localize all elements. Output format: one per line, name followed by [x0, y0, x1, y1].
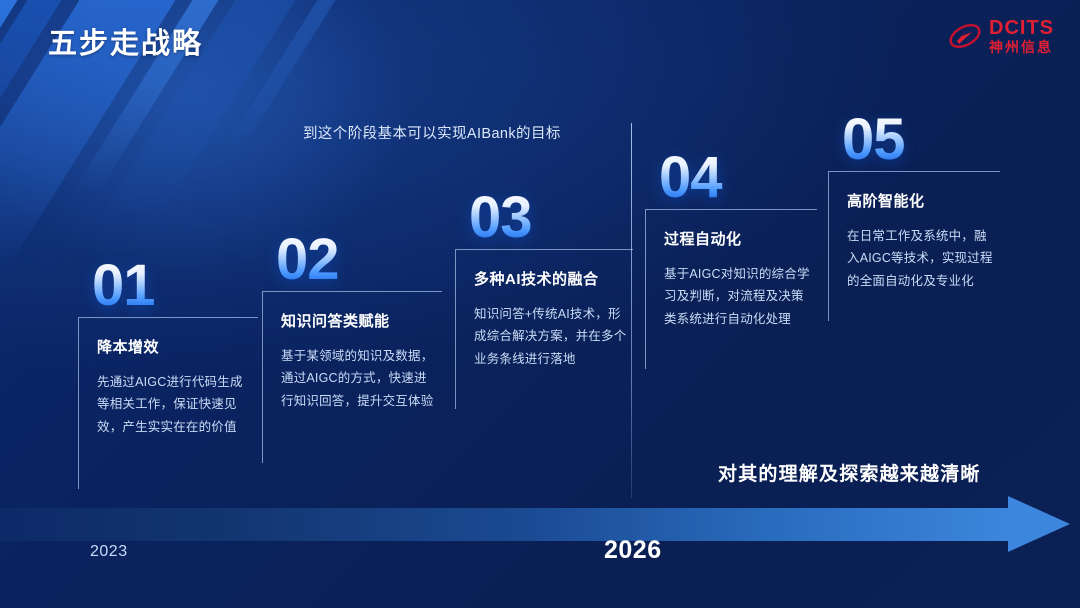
page-title: 五步走战略 [48, 20, 203, 62]
logo-wordmark: DCITS 神州信息 [989, 18, 1054, 54]
top-note: 到这个阶段基本可以实现AIBank的目标 [303, 122, 561, 143]
step-content: 高阶智能化 在日常工作及系统中，融入AIGC等技术，实现过程的全面自动化及专业化 [828, 171, 1000, 321]
step-description: 基于AIGC对知识的综合学习及判断，对流程及决策类系统进行自动化处理 [664, 263, 813, 330]
step-description: 基于某领域的知识及数据，通过AIGC的方式，快速进行知识回答，提升交互体验 [281, 345, 438, 412]
step-number: 04 [659, 150, 817, 205]
step-number: 05 [842, 112, 1000, 167]
step-number: 02 [276, 232, 442, 287]
step-description: 在日常工作及系统中，融入AIGC等技术，实现过程的全面自动化及专业化 [847, 225, 996, 292]
slide-header: 五步走战略 DCITS 神州信息 [0, 0, 1080, 78]
dcits-swirl-icon [948, 21, 982, 51]
timeline-arrow-head-icon [1008, 496, 1070, 552]
logo-en-text: DCITS [989, 18, 1054, 38]
step-heading: 多种AI技术的融合 [474, 268, 629, 289]
step-card-04: 04 过程自动化 基于AIGC对知识的综合学习及判断，对流程及决策类系统进行自动… [645, 150, 817, 369]
timeline-year-end: 2026 [604, 536, 662, 565]
step-description: 知识问答+传统AI技术，形成综合解决方案，并在多个业务条线进行落地 [474, 303, 629, 370]
step-heading: 降本增效 [97, 336, 254, 357]
step-heading: 过程自动化 [664, 228, 813, 249]
step-content: 过程自动化 基于AIGC对知识的综合学习及判断，对流程及决策类系统进行自动化处理 [645, 209, 817, 369]
step-card-05: 05 高阶智能化 在日常工作及系统中，融入AIGC等技术，实现过程的全面自动化及… [828, 112, 1000, 321]
step-number: 03 [469, 190, 633, 245]
step-content: 降本增效 先通过AIGC进行代码生成等相关工作，保证快速见效，产生实实在在的价值 [78, 317, 258, 489]
step-card-02: 02 知识问答类赋能 基于某领域的知识及数据，通过AIGC的方式，快速进行知识回… [262, 232, 442, 463]
slide-canvas: 五步走战略 DCITS 神州信息 到这个阶段基本可以实现AIBank的目标 01… [0, 0, 1080, 608]
step-heading: 知识问答类赋能 [281, 310, 438, 331]
timeline-year-start: 2023 [90, 543, 128, 561]
brand-logo: DCITS 神州信息 [948, 18, 1054, 54]
step-content: 多种AI技术的融合 知识问答+传统AI技术，形成综合解决方案，并在多个业务条线进… [455, 249, 633, 409]
timeline-arrow-bar [0, 508, 1012, 541]
arrow-caption: 对其的理解及探索越来越清晰 [718, 459, 981, 486]
step-card-01: 01 降本增效 先通过AIGC进行代码生成等相关工作，保证快速见效，产生实实在在… [78, 258, 258, 489]
step-number: 01 [92, 258, 258, 313]
logo-cn-text: 神州信息 [989, 40, 1054, 54]
step-description: 先通过AIGC进行代码生成等相关工作，保证快速见效，产生实实在在的价值 [97, 371, 254, 438]
step-content: 知识问答类赋能 基于某领域的知识及数据，通过AIGC的方式，快速进行知识回答，提… [262, 291, 442, 463]
timeline-arrow [0, 502, 1080, 548]
step-heading: 高阶智能化 [847, 190, 996, 211]
step-card-03: 03 多种AI技术的融合 知识问答+传统AI技术，形成综合解决方案，并在多个业务… [455, 190, 633, 409]
